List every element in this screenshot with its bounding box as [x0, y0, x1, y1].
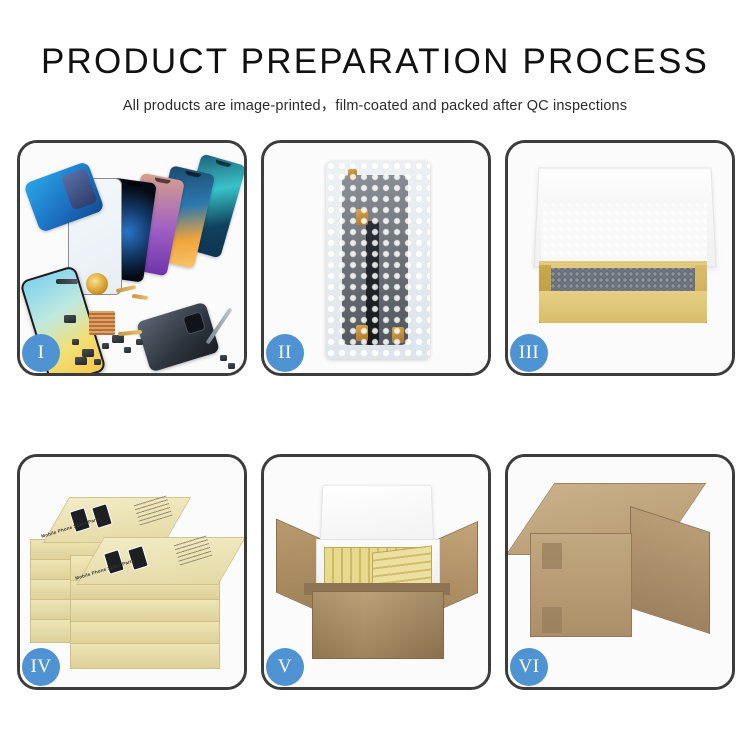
box-front-icon: [539, 291, 707, 323]
step-badge-6: VI: [510, 648, 548, 686]
carton-top-edge-icon: [304, 583, 450, 595]
phone-orange-icon: [150, 165, 215, 269]
process-step-panel-1[interactable]: I: [17, 140, 247, 376]
bubble-wrap-contents-icon: [550, 265, 702, 293]
process-step-panel-2[interactable]: II: [261, 140, 491, 376]
box-label-text: Mobile Phone Spare Parts: [41, 516, 101, 539]
flex-cable-icon: [132, 294, 148, 300]
gold-coil-icon: [86, 273, 108, 295]
foam-box-icon: [316, 539, 440, 597]
bubble-wrap-bag-icon: [326, 161, 430, 359]
part-chip-icon: [72, 339, 79, 345]
box-lid-top-icon: [43, 497, 192, 543]
kraft-boxes-inside-icon: [324, 547, 432, 591]
carton-tape-icon: [542, 607, 562, 633]
process-step-panel-5[interactable]: V: [261, 454, 491, 690]
part-chip-icon: [64, 315, 76, 323]
part-chip-icon: [82, 349, 94, 357]
process-step-grid: I II III: [17, 140, 735, 690]
step-badge-3: III: [510, 334, 548, 372]
foam-sheet-icon: [541, 201, 707, 269]
flex-cable-icon: [366, 221, 379, 345]
foam-lid-icon: [320, 485, 435, 547]
copper-grid-icon: [89, 311, 115, 335]
box-lid-top-icon: [76, 537, 244, 585]
tweezer-icon: [206, 307, 233, 344]
process-step-panel-6[interactable]: VI: [505, 454, 735, 690]
gold-connector-icon: [356, 325, 368, 341]
part-chip-icon: [75, 357, 87, 365]
gold-connector-icon: [392, 327, 404, 343]
part-chip-icon: [136, 339, 143, 345]
blue-film-icon: [23, 161, 105, 233]
bubble-texture-icon: [326, 161, 430, 359]
process-step-panel-4[interactable]: Mobile Phone Spare Parts Mobile Phone Sp…: [17, 454, 247, 690]
page-header: PRODUCT PREPARATION PROCESS All products…: [0, 0, 750, 115]
screen-assembly-icon: [342, 175, 408, 345]
part-chip-icon: [102, 343, 109, 349]
box-label-text: Mobile Phone Spare Parts: [75, 558, 135, 581]
page-title: PRODUCT PREPARATION PROCESS: [0, 0, 750, 81]
phone-purple-icon: [123, 173, 185, 277]
part-bar-icon: [56, 279, 78, 284]
phone-back-housing-icon: [136, 302, 220, 373]
flex-cable-icon: [118, 330, 142, 336]
screen-glass-icon: [68, 178, 122, 295]
kraft-boxes-inside-icon: [372, 545, 432, 592]
part-chip-icon: [228, 363, 235, 369]
box-rim-icon: [539, 261, 707, 268]
carton-tape-icon: [542, 543, 562, 569]
carton-front-icon: [530, 533, 632, 637]
carton-side-icon: [630, 506, 710, 634]
part-chip-icon: [124, 347, 131, 353]
part-chip-icon: [94, 359, 101, 365]
carton-body-icon: [312, 591, 444, 659]
carton-top-icon: [508, 483, 706, 555]
step-badge-1: I: [22, 334, 60, 372]
phone-teal-icon: [176, 154, 244, 259]
gold-connector-icon: [348, 169, 357, 178]
page-subtitle: All products are image-printed，film-coat…: [0, 81, 750, 115]
process-step-panel-3[interactable]: III: [505, 140, 735, 376]
part-chip-icon: [112, 335, 124, 343]
phone-blue-icon: [98, 177, 156, 282]
box-side-left-icon: [539, 265, 551, 323]
flex-cable-icon: [116, 285, 136, 293]
carton-flap-right-icon: [424, 521, 478, 617]
step-badge-5: V: [266, 648, 304, 686]
step-badge-2: II: [266, 334, 304, 372]
box-side-right-icon: [695, 265, 707, 323]
box-lid-icon: [533, 168, 716, 268]
carton-flap-left-icon: [276, 519, 332, 618]
step-badge-4: IV: [22, 648, 60, 686]
part-chip-icon: [220, 355, 227, 361]
gold-connector-icon: [356, 209, 368, 225]
box-stack-icon: Mobile Phone Spare Parts Mobile Phone Sp…: [28, 481, 242, 671]
